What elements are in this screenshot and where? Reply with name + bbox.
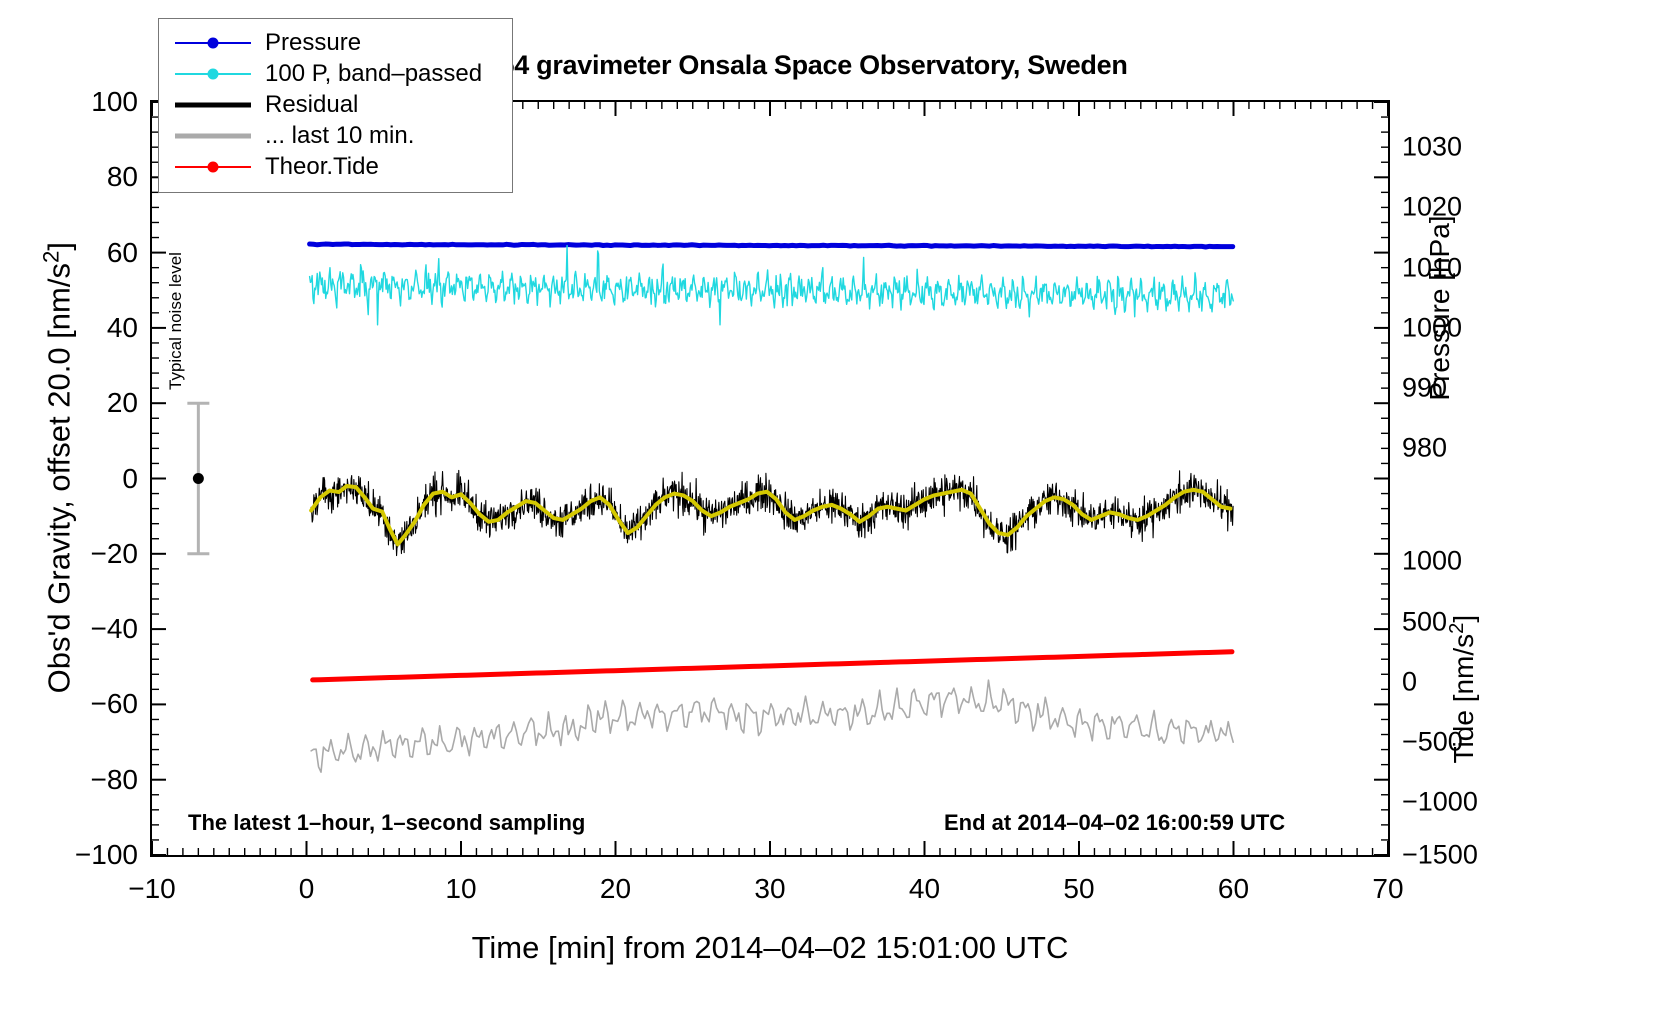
x-tick-label: 20 — [556, 873, 676, 905]
trace-pressure — [310, 244, 1233, 247]
legend-marker-icon — [208, 37, 219, 48]
legend-item-label: ... last 10 min. — [265, 124, 414, 148]
legend-swatch-icon — [169, 33, 257, 53]
legend-swatch-icon — [169, 64, 257, 84]
plot-traces — [152, 102, 1388, 855]
noise-level-label: Typical noise level — [166, 190, 186, 390]
legend-item-label: 100 P, band–passed — [265, 62, 482, 86]
legend-item-label: Pressure — [265, 31, 361, 55]
x-tick-label: 30 — [710, 873, 830, 905]
trace-theor-tide — [313, 652, 1232, 680]
x-tick-label: −10 — [92, 873, 212, 905]
chart-legend[interactable]: Pressure100 P, band–passedResidual... la… — [158, 18, 513, 193]
legend-marker-icon — [208, 68, 219, 79]
x-tick-label: 60 — [1174, 873, 1294, 905]
legend-marker-icon — [208, 161, 219, 172]
legend-swatch-icon — [169, 95, 257, 115]
legend-item-4[interactable]: Theor.Tide — [169, 151, 502, 182]
footer-note-left: The latest 1–hour, 1–second sampling — [188, 810, 585, 836]
legend-item-0[interactable]: Pressure — [169, 27, 502, 58]
legend-item-label: Residual — [265, 93, 358, 117]
axis-tick-marks — [152, 102, 1388, 855]
x-tick-label: 50 — [1019, 873, 1139, 905]
plot-area — [150, 100, 1390, 857]
noise-level-errorbar — [187, 403, 209, 554]
legend-item-1[interactable]: 100 P, band–passed — [169, 58, 502, 89]
trace-residual — [311, 470, 1233, 555]
x-tick-label: 0 — [247, 873, 367, 905]
legend-swatch-icon — [169, 126, 257, 146]
x-tick-label: 40 — [865, 873, 985, 905]
legend-item-3[interactable]: ... last 10 min. — [169, 120, 502, 151]
legend-line-icon — [175, 133, 251, 138]
legend-line-icon — [175, 102, 251, 107]
trace-residual-smoothed — [311, 486, 1230, 544]
legend-item-label: Theor.Tide — [265, 155, 379, 179]
x-tick-label: 10 — [401, 873, 521, 905]
x-tick-label: 70 — [1328, 873, 1448, 905]
footer-note-right: End at 2014–04–02 16:00:59 UTC — [944, 810, 1285, 836]
legend-item-2[interactable]: Residual — [169, 89, 502, 120]
chart-canvas: SCG_054 gravimeter Onsala Space Observat… — [0, 0, 1660, 1020]
trace-last-10-min — [311, 680, 1233, 772]
trace-band-passed — [310, 246, 1234, 325]
legend-swatch-icon — [169, 157, 257, 177]
